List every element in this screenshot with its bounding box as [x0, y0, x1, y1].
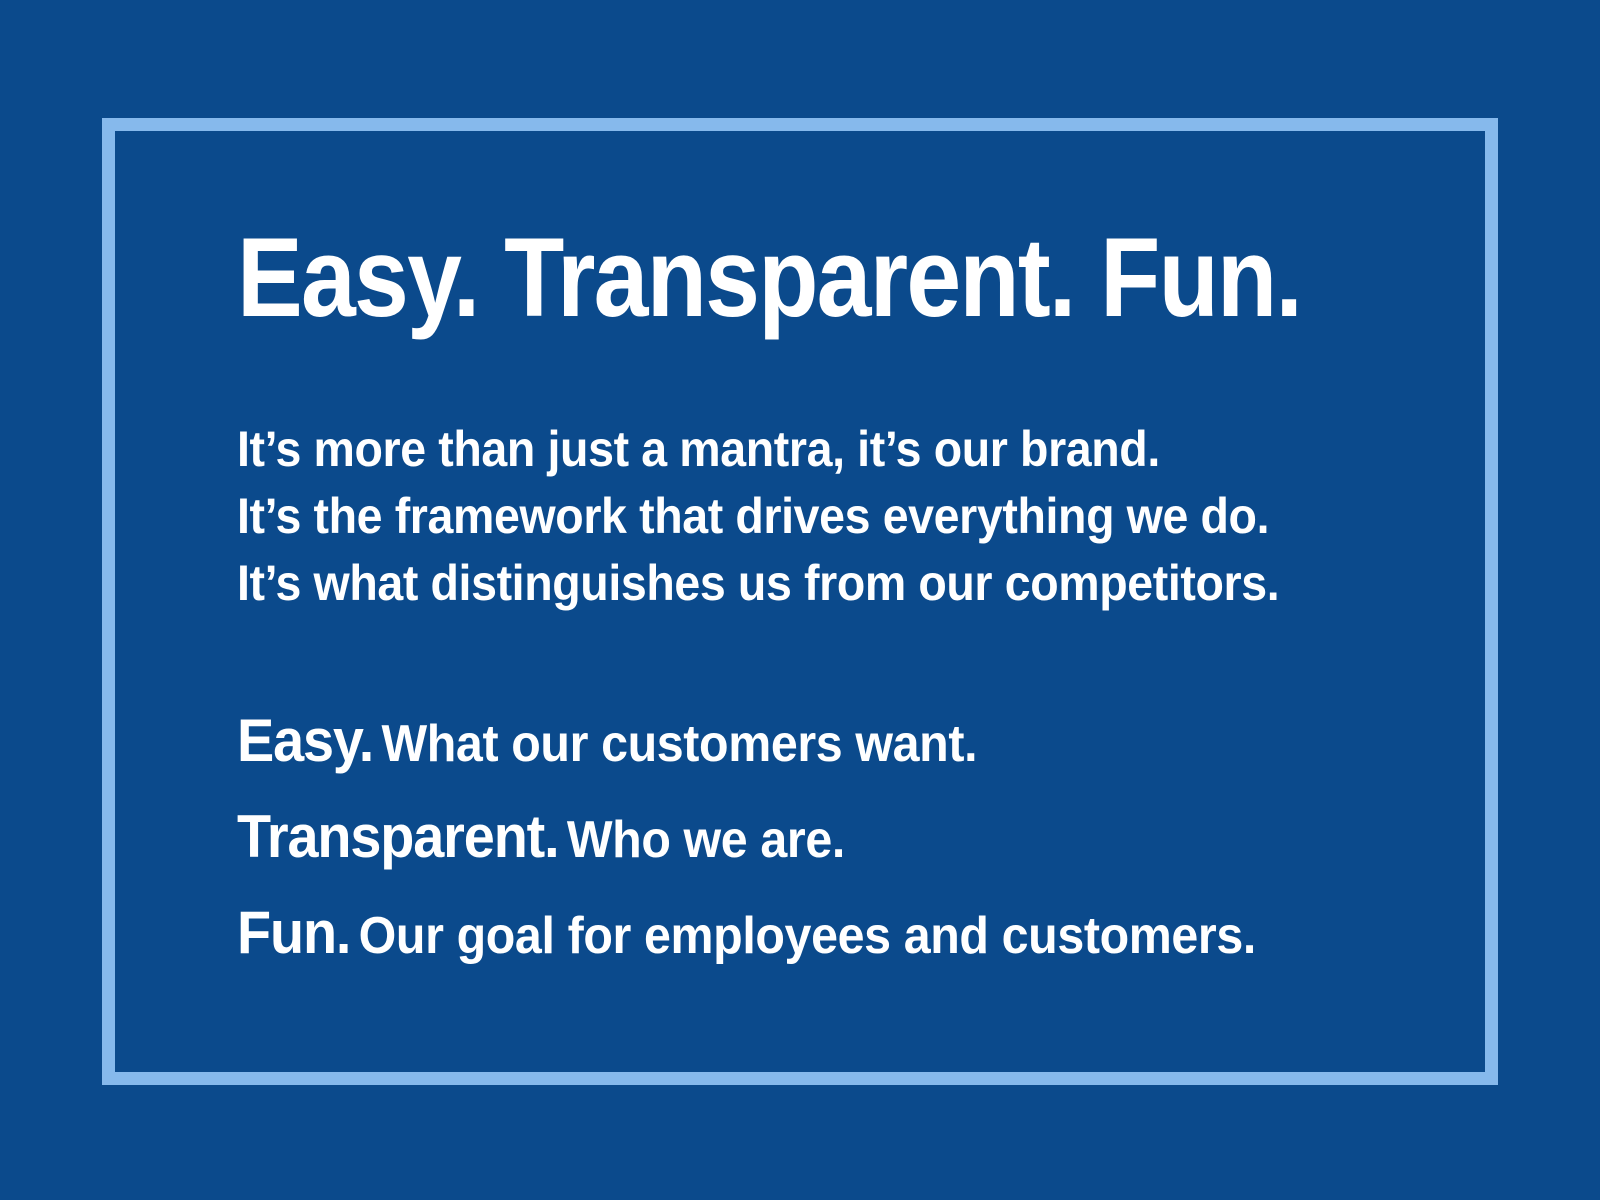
- intro-line-2: It’s the framework that drives everythin…: [237, 483, 1334, 550]
- pillar-term-fun: Fun.: [237, 899, 350, 966]
- pillar-description-easy: What our customers want.: [373, 715, 977, 773]
- pillars-list: Easy.What our customers want. Transparen…: [237, 701, 1417, 989]
- pillar-term-easy: Easy.: [237, 707, 373, 774]
- pillar-item-transparent: Transparent.Who we are.: [237, 797, 1334, 893]
- intro-line-1: It’s more than just a mantra, it’s our b…: [237, 416, 1334, 483]
- pillar-description-transparent: Who we are.: [559, 811, 845, 869]
- intro-line-3: It’s what distinguishes us from our comp…: [237, 550, 1334, 617]
- pillar-item-easy: Easy.What our customers want.: [237, 701, 1334, 797]
- pillar-item-fun: Fun.Our goal for employees and customers…: [237, 893, 1334, 989]
- page-title: Easy. Transparent. Fun.: [237, 222, 1275, 334]
- slide-canvas: Easy. Transparent. Fun. It’s more than j…: [0, 0, 1600, 1200]
- slide-content: Easy. Transparent. Fun. It’s more than j…: [237, 222, 1417, 989]
- pillar-description-fun: Our goal for employees and customers.: [350, 907, 1256, 965]
- intro-paragraph: It’s more than just a mantra, it’s our b…: [237, 416, 1417, 617]
- pillar-term-transparent: Transparent.: [237, 803, 559, 870]
